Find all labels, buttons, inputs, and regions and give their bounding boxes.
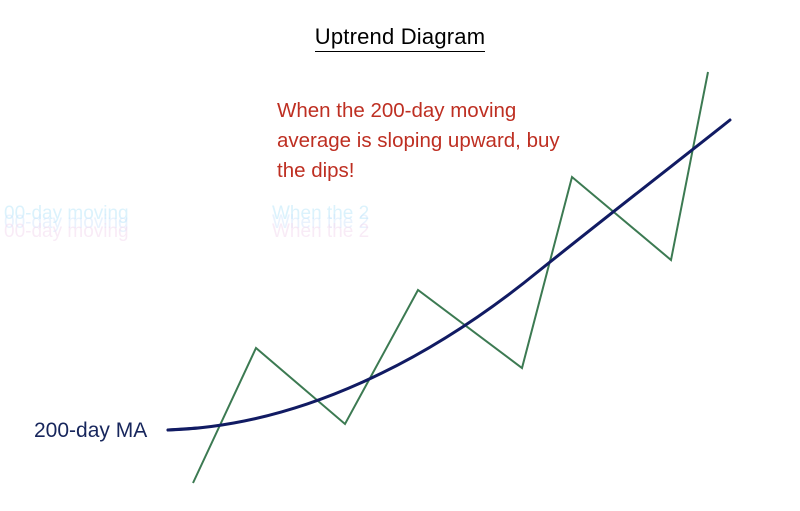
moving-average-label: 200-day MA (34, 419, 147, 443)
page-title: Uptrend Diagram (0, 24, 800, 50)
annotation-line-2: average is sloping upward, buy (277, 126, 622, 156)
annotation-line-3: the dips! (277, 156, 622, 186)
ma-label-leader-line (168, 428, 198, 430)
uptrend-diagram-canvas: 00-day moving 00-day moving 00-day movin… (0, 0, 800, 511)
annotation-callout: When the 200-day moving average is slopi… (277, 96, 622, 186)
page-title-text: Uptrend Diagram (315, 24, 486, 52)
annotation-line-1: When the 200-day moving (277, 96, 622, 126)
